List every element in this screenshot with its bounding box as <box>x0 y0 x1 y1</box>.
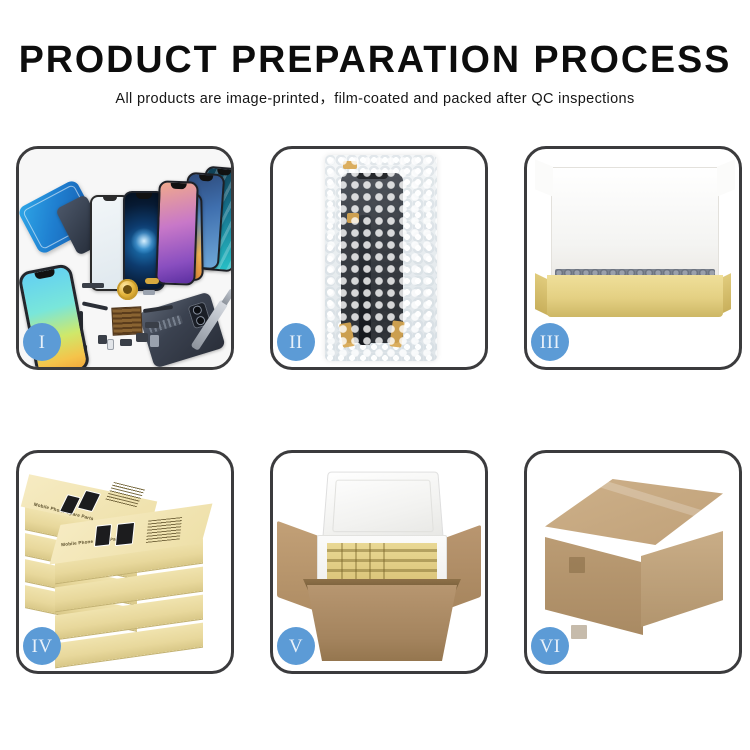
spare-part <box>120 339 132 346</box>
step-badge-1: I <box>23 323 61 361</box>
step-panel-3[interactable]: III <box>524 146 742 370</box>
flex-ribbon <box>359 215 371 345</box>
step-badge-5: V <box>277 627 315 665</box>
phone-purple-screen <box>155 180 199 285</box>
carton-body <box>307 585 457 661</box>
carton-tab <box>571 625 587 639</box>
spare-part <box>143 290 155 295</box>
step-badge-6: VI <box>531 627 569 665</box>
spare-part <box>107 339 114 350</box>
page-title: PRODUCT PREPARATION PROCESS <box>4 38 747 82</box>
gold-coil-part <box>117 279 138 300</box>
step-panel-2[interactable]: II <box>270 146 488 370</box>
product-preparation-infographic: PRODUCT PREPARATION PROCESS All products… <box>0 0 750 750</box>
tape-piece <box>347 213 359 223</box>
step-panel-6[interactable]: VI <box>524 450 742 674</box>
tape-piece <box>389 320 405 347</box>
step-panel-5[interactable]: V <box>270 450 488 674</box>
box-window <box>115 522 135 546</box>
carton-tab <box>569 557 585 573</box>
wrapped-screen-assembly <box>341 173 403 343</box>
white-foam-lid <box>551 167 719 277</box>
carton-side-face <box>641 531 723 627</box>
tape-piece <box>343 161 357 169</box>
box-text-lines <box>146 517 182 543</box>
page-subtitle: All products are image-printed，film-coat… <box>0 90 750 108</box>
kraft-box-tray <box>547 275 723 317</box>
spare-part <box>145 278 159 284</box>
connector-grid-part <box>111 306 142 336</box>
bubble-wrap-bag <box>325 155 437 361</box>
foam-box-lid <box>322 472 444 542</box>
process-step-grid: I II <box>16 146 742 674</box>
header: PRODUCT PREPARATION PROCESS All products… <box>0 38 750 108</box>
spare-part <box>82 283 104 288</box>
box-window <box>94 524 112 547</box>
spare-part <box>145 322 159 328</box>
step-panel-4[interactable]: Mobile Phone Spare Parts Mobile Phone Sp… <box>16 450 234 674</box>
step-badge-3: III <box>531 323 569 361</box>
spare-part <box>150 335 159 347</box>
step-badge-2: II <box>277 323 315 361</box>
step-panel-1[interactable]: I <box>16 146 234 370</box>
carton-front-face <box>545 537 643 635</box>
spare-part <box>98 335 107 344</box>
spare-part <box>136 333 148 342</box>
step-badge-4: IV <box>23 627 61 665</box>
